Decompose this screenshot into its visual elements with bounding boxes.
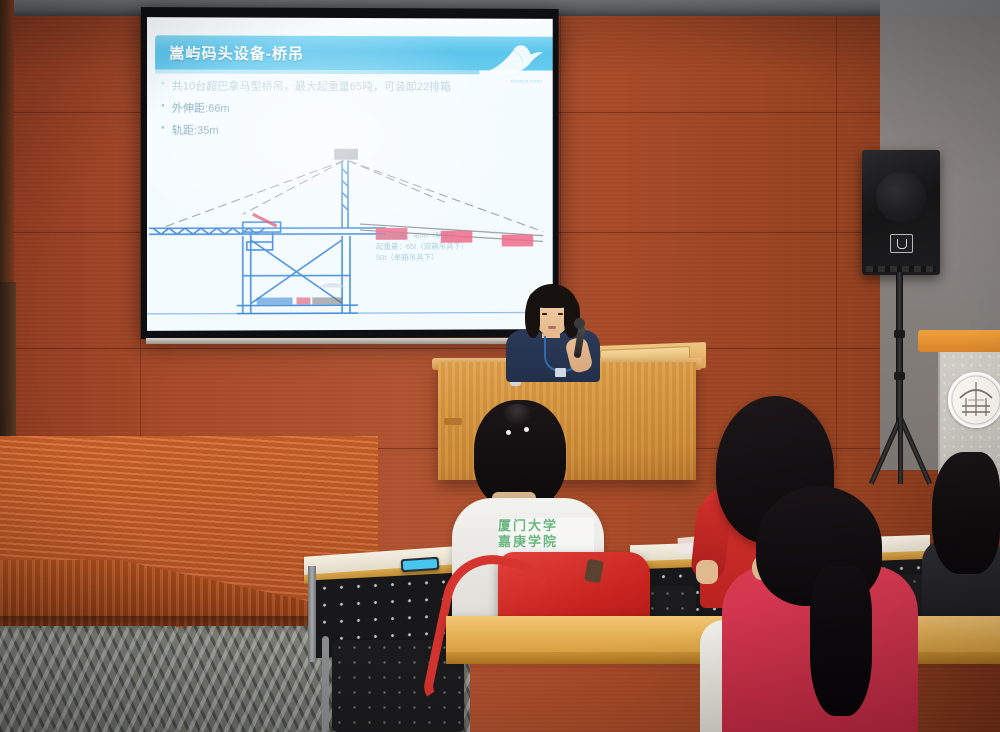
list-item: • 外伸距:66m bbox=[161, 100, 543, 117]
hair-part bbox=[502, 404, 532, 426]
presenter-eye bbox=[542, 313, 547, 315]
presenter-mouth bbox=[548, 326, 556, 329]
pa-loudspeaker bbox=[862, 150, 940, 275]
presenter-hair-left bbox=[525, 300, 540, 338]
microphone-head bbox=[574, 318, 585, 329]
speaker-cone bbox=[876, 172, 926, 222]
stand-adjust-knob bbox=[894, 372, 905, 380]
id-badge bbox=[555, 368, 566, 377]
quay-crane-illustration bbox=[147, 136, 553, 317]
list-item: • 共10台超巴拿马型桥吊，最大起重量65吨，可装卸22排箱 bbox=[161, 78, 543, 95]
chair-frame bbox=[322, 636, 329, 732]
slide-title: 嵩屿码头设备-桥吊 bbox=[169, 42, 304, 64]
bullet-text: 共10台超巴拿马型桥吊，最大起重量65吨，可装卸22排箱 bbox=[172, 78, 451, 95]
desk-leg bbox=[308, 566, 316, 662]
presentation-room-photo: 嵩屿码头设备-桥吊 XIAMEN PORT • 共10台超巴拿马型桥吊，最大起重… bbox=[0, 0, 1000, 732]
slide-bullet-list: • 共10台超巴拿马型桥吊，最大起重量65吨，可装卸22排箱 • 外伸距:66m… bbox=[161, 78, 543, 145]
tripod-leg bbox=[898, 418, 903, 484]
bullet-text: 外伸距:66m bbox=[172, 100, 230, 116]
stage-shadow bbox=[0, 616, 360, 634]
speaker-brand-badge bbox=[890, 234, 913, 253]
hair-clip bbox=[524, 427, 529, 432]
wall-wood-trim bbox=[918, 330, 1000, 352]
wall-seam bbox=[836, 0, 837, 470]
bullet-dot: • bbox=[161, 100, 165, 113]
projection-screen: 嵩屿码头设备-桥吊 XIAMEN PORT • 共10台超巴拿马型桥吊，最大起重… bbox=[141, 7, 559, 339]
projected-slide: 嵩屿码头设备-桥吊 XIAMEN PORT • 共10台超巴拿马型桥吊，最大起重… bbox=[147, 17, 553, 331]
circular-wall-emblem bbox=[948, 372, 1000, 428]
shirt-print-line: 嘉庚学院 bbox=[498, 534, 594, 550]
podium-side-cutout bbox=[444, 418, 462, 425]
wall-left-edge bbox=[0, 0, 14, 282]
screen-bottom-lip bbox=[146, 338, 558, 344]
audience-hand bbox=[696, 560, 718, 584]
hair-clip bbox=[506, 430, 511, 435]
ponytail bbox=[810, 566, 872, 716]
bullet-dot: • bbox=[161, 122, 165, 135]
bullet-dot: • bbox=[161, 78, 165, 91]
shirt-print-line: 厦门大学 bbox=[498, 518, 594, 534]
slide-note-block: 起升高度：40m（轨上） 起重量：65t（双箱吊具下） 50t（单箱吊具下） bbox=[376, 230, 545, 263]
slide-note-line: 50t（单箱吊具下） bbox=[376, 252, 545, 263]
presenter-eye bbox=[558, 313, 563, 315]
slide-note-line: 起升高度：40m（轨上） bbox=[376, 230, 545, 241]
slide-note-line: 起重量：65t（双箱吊具下） bbox=[376, 241, 545, 252]
seagull-logo bbox=[483, 40, 546, 80]
smartphone-on-desk bbox=[401, 557, 440, 573]
stand-adjust-knob bbox=[894, 330, 905, 338]
phone-screen bbox=[403, 559, 438, 570]
slide-title-underline bbox=[155, 69, 479, 74]
speaker-stand-pole bbox=[896, 272, 903, 427]
audience-hair bbox=[932, 452, 1000, 574]
speaker-at-podium bbox=[498, 282, 608, 378]
